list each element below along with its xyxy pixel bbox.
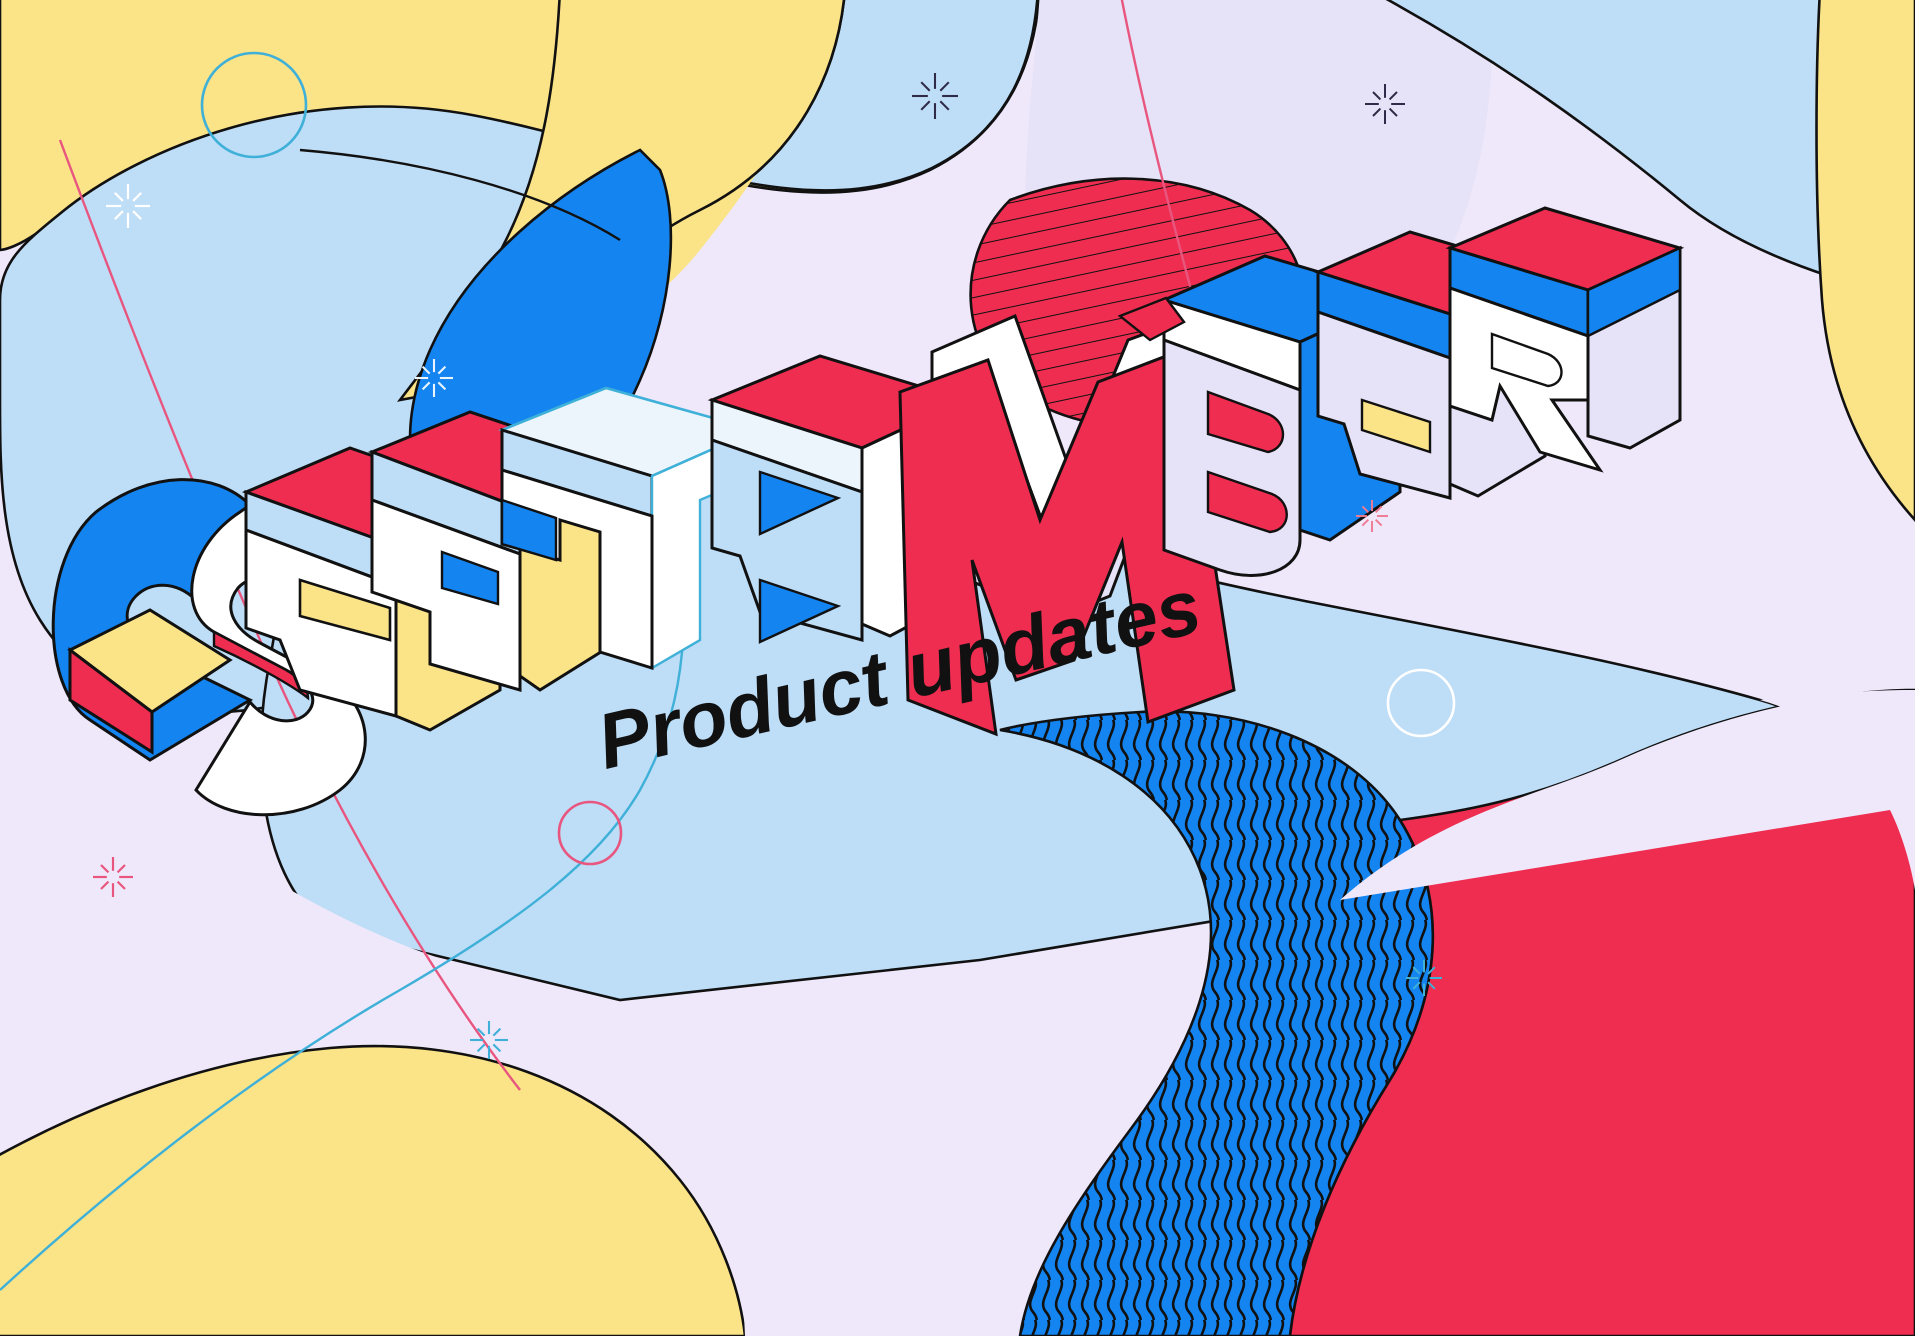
hero-banner: Product updates SEPTEMBER Product update… (0, 0, 1915, 1336)
banner-artwork: Product updates (0, 0, 1915, 1336)
